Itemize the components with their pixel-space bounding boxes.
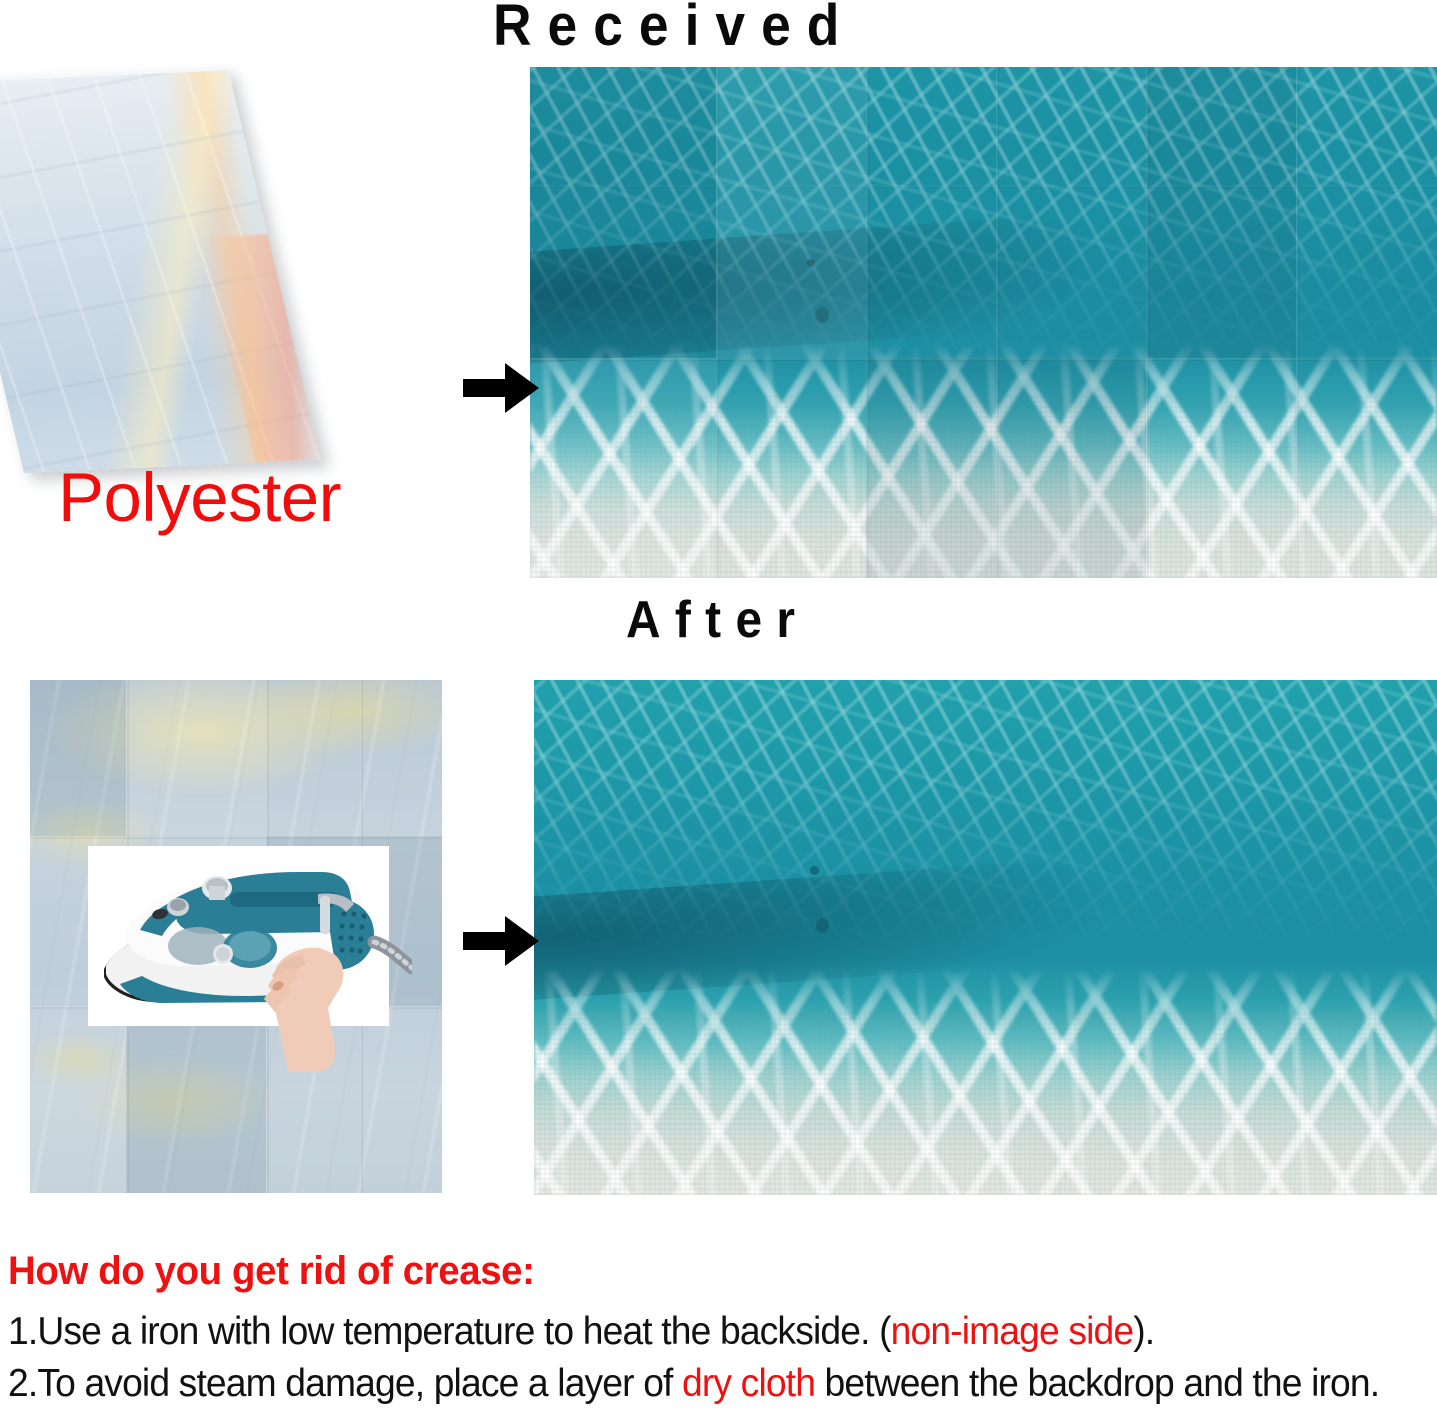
arrow-right-icon (463, 359, 539, 417)
instruction-line-1: 1.Use a iron with low temperature to hea… (8, 1306, 1373, 1358)
bubble-icon (810, 866, 819, 875)
received-heading: Received (493, 0, 855, 56)
clothes-iron-icon (82, 836, 412, 1071)
iron-demo-inset (88, 846, 389, 1026)
bubble-icon (816, 918, 829, 933)
folded-fabric-sheet (0, 67, 321, 473)
water-surface-shimmer (534, 680, 1437, 948)
instruction-2-suffix: between the backdrop and the iron. (815, 1362, 1379, 1405)
folded-fabric-photo (0, 60, 450, 490)
instruction-2-prefix: 2.To avoid steam damage, place a layer o… (8, 1362, 682, 1405)
after-backdrop-photo (534, 680, 1437, 1195)
instruction-1-suffix: ). (1133, 1310, 1154, 1353)
instruction-line-2: 2.To avoid steam damage, place a layer o… (8, 1358, 1373, 1410)
instructions-block: How do you get rid of crease: 1.Use a ir… (8, 1246, 1437, 1410)
instructions-title: How do you get rid of crease: (8, 1246, 1380, 1296)
polyester-label: Polyester (58, 462, 341, 534)
instruction-2-highlight: dry cloth (682, 1362, 815, 1405)
after-heading: After (626, 592, 809, 648)
sand-texture (530, 394, 1437, 578)
received-backdrop-photo (530, 67, 1437, 578)
bubble-icon (815, 307, 829, 323)
bubble-icon (807, 259, 815, 267)
water-surface-shimmer (530, 67, 1437, 363)
arrow-right-icon (463, 912, 539, 970)
sand-texture (534, 1010, 1437, 1195)
instruction-1-highlight: non-image side (891, 1310, 1134, 1353)
instruction-1-prefix: 1.Use a iron with low temperature to hea… (8, 1310, 891, 1353)
